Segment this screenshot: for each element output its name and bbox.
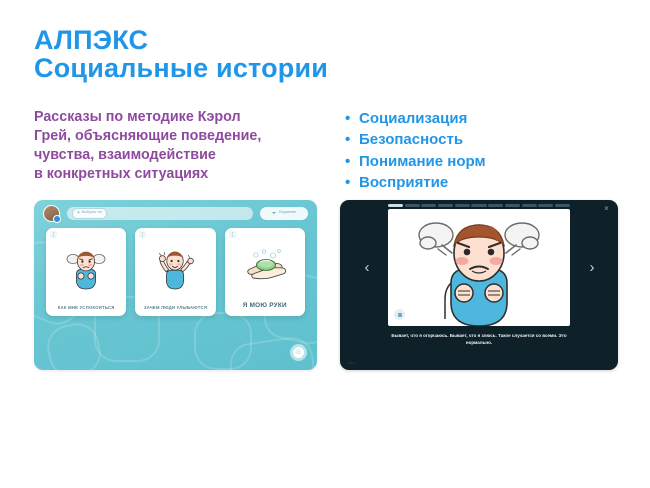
bullet-icon: •	[345, 132, 359, 147]
list-item: • Безопасность	[345, 129, 595, 150]
list-item: • Социализация	[345, 108, 595, 129]
progress-segment	[405, 204, 420, 207]
story-illustration	[388, 209, 570, 326]
bullet-icon: •	[345, 154, 359, 169]
progress-segment	[421, 204, 436, 207]
app-library-screenshot: + Выбрать тег Недавние	[34, 200, 317, 370]
corner-watermark: ооо	[348, 361, 355, 365]
search-input[interactable]: + Выбрать тег	[67, 207, 253, 220]
progress-segment	[555, 204, 570, 207]
list-item-label: Понимание норм	[359, 151, 486, 172]
lead-paragraph: Рассказы по методике Кэрол Грей, объясня…	[34, 108, 319, 185]
story-card[interactable]: ЗАЧЕМ ЛЮДИ УЛЫБАЮТСЯ	[135, 228, 215, 316]
lead-line: Грей, объясняющие поведение,	[34, 127, 319, 146]
story-card-label: ЗАЧЕМ ЛЮДИ УЛЫБАЮТСЯ	[141, 305, 210, 310]
story-player-screenshot: × ‹ ›	[340, 200, 618, 370]
title-line-primary: АЛПЭКС	[34, 26, 454, 54]
story-progress-bar[interactable]	[388, 204, 570, 207]
list-item: • Понимание норм	[345, 151, 595, 172]
card-menu-icon[interactable]	[139, 231, 146, 238]
story-card-grid: КАК МНЕ УСПОКОИТЬСЯ	[46, 228, 305, 316]
story-slide-stage	[388, 209, 570, 326]
bullet-icon: •	[345, 175, 359, 190]
page-title: АЛПЭКС Социальные истории	[34, 26, 454, 82]
add-story-icon: ☉	[293, 347, 304, 358]
list-item-label: Восприятие	[359, 172, 448, 193]
list-item-label: Социализация	[359, 108, 467, 129]
tag-filter-chip[interactable]: + Выбрать тег	[72, 208, 107, 219]
story-card[interactable]: КАК МНЕ УСПОКОИТЬСЯ	[46, 228, 126, 316]
progress-segment	[388, 204, 403, 207]
story-card-art	[46, 228, 126, 305]
story-card-art	[225, 228, 305, 302]
close-icon[interactable]: ×	[602, 204, 611, 213]
title-line-secondary: Социальные истории	[34, 54, 454, 82]
story-caption: Бывает, что я огорчаюсь. Бывает, что я з…	[388, 333, 570, 347]
tag-filter-label: Выбрать тег	[82, 211, 102, 215]
progress-segment	[438, 204, 453, 207]
sort-dropdown-label: Недавние	[279, 211, 296, 215]
chevron-down-icon	[272, 212, 276, 214]
progress-segment	[538, 204, 553, 207]
bullet-icon: •	[345, 111, 359, 126]
app-topbar: + Выбрать тег Недавние	[34, 200, 317, 226]
progress-segment	[471, 204, 486, 207]
story-card[interactable]: Я МОЮ РУКИ	[225, 228, 305, 316]
sort-dropdown[interactable]: Недавние	[260, 207, 308, 220]
prev-slide-button[interactable]: ‹	[360, 260, 374, 275]
list-item-label: Безопасность	[359, 129, 463, 150]
add-story-button[interactable]: ☉	[290, 344, 307, 361]
next-slide-button[interactable]: ›	[585, 260, 599, 275]
story-card-label: КАК МНЕ УСПОКОИТЬСЯ	[55, 305, 118, 310]
plus-icon: +	[77, 211, 80, 216]
story-card-label: Я МОЮ РУКИ	[240, 302, 290, 310]
lead-line: в конкретных ситуациях	[34, 165, 319, 184]
benefits-list: • Социализация • Безопасность • Понимани…	[345, 108, 595, 193]
progress-segment	[522, 204, 537, 207]
audio-stop-button[interactable]	[394, 309, 405, 320]
progress-segment	[505, 204, 520, 207]
card-menu-icon[interactable]	[229, 231, 236, 238]
lead-line: Рассказы по методике Кэрол	[34, 108, 319, 127]
progress-segment	[488, 204, 503, 207]
list-item: • Восприятие	[345, 172, 595, 193]
story-card-art	[135, 228, 215, 305]
avatar[interactable]	[43, 205, 60, 222]
card-menu-icon[interactable]	[50, 231, 57, 238]
progress-segment	[455, 204, 470, 207]
lead-line: чувства, взаимодействие	[34, 146, 319, 165]
